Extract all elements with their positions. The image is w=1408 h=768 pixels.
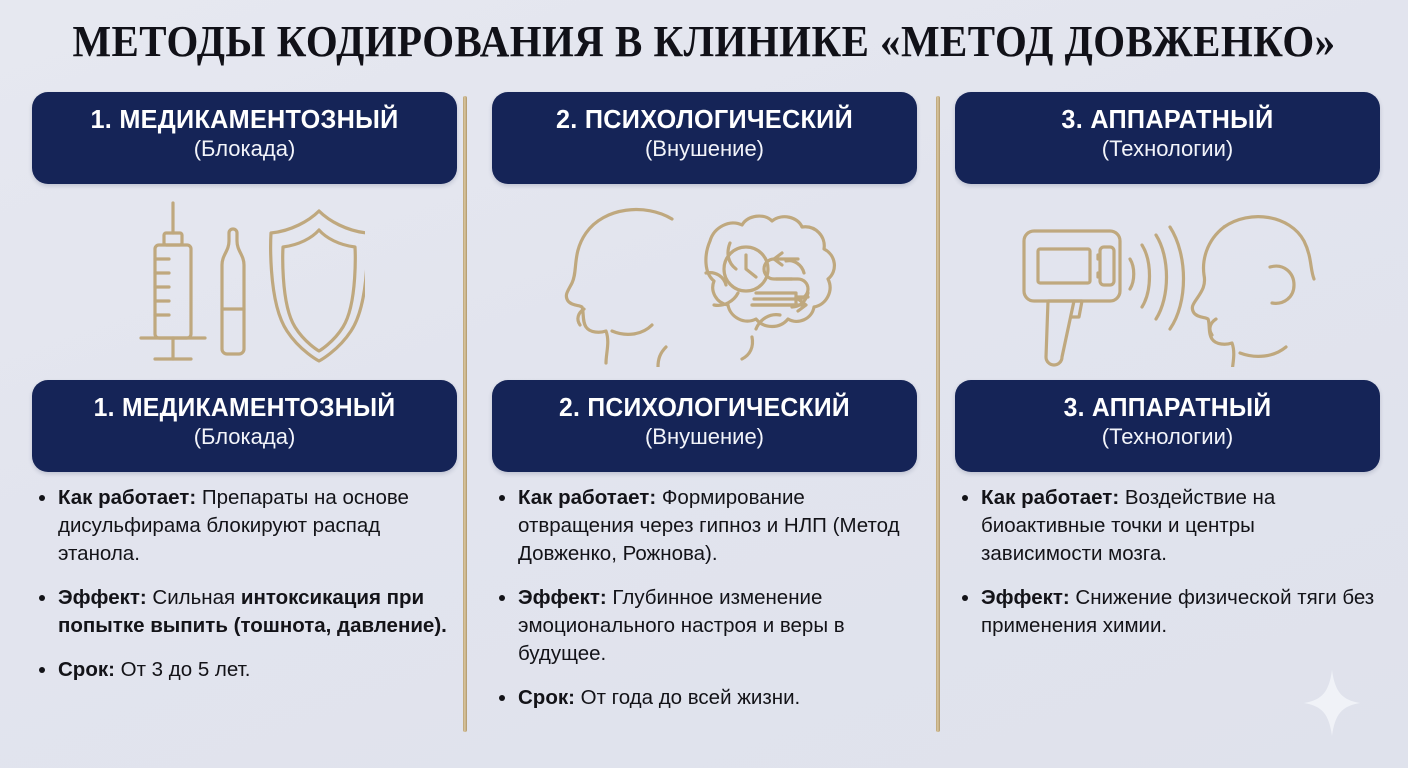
columns-container: 1. МЕДИКАМЕНТОЗНЫЙ (Блокада) (0, 92, 1408, 752)
header-card-bottom-1[interactable]: 1. МЕДИКАМЕНТОЗНЫЙ (Блокада) (32, 380, 457, 472)
page-title: МЕТОДЫ КОДИРОВАНИЯ В КЛИНИКЕ «МЕТОД ДОВЖ… (49, 14, 1358, 70)
list-item: Срок: От года до всей жизни. (492, 684, 917, 712)
icon-band-2 (492, 188, 917, 376)
header-card-top-2-subtitle: (Внушение) (500, 135, 909, 163)
list-item: Как работает: Воздействие на биоактивные… (955, 484, 1380, 568)
header-card-top-2-title: 2. ПСИХОЛОГИЧЕСКИЙ (506, 103, 903, 135)
header-card-bottom-3[interactable]: 3. АППАРАТНЫЙ (Технологии) (955, 380, 1380, 472)
header-card-bottom-1-subtitle: (Блокада) (40, 423, 449, 451)
bullet-label: Эффект: (518, 586, 607, 609)
icon-band-1 (32, 188, 457, 376)
list-item: Эффект: Глубинное изменение эмоционально… (492, 584, 917, 668)
bullet-label: Эффект: (58, 586, 147, 609)
bullet-label: Как работает: (58, 486, 196, 509)
bullet-label: Как работает: (981, 486, 1119, 509)
syringe-ampoule-shield-icon (125, 197, 365, 367)
bullet-list-2: Как работает: Формирование отвращения че… (492, 484, 917, 712)
bullet-label: Как работает: (518, 486, 656, 509)
list-item: Как работает: Препараты на основе дисуль… (32, 484, 457, 568)
header-card-top-3-title: 3. АППАРАТНЫЙ (969, 103, 1366, 135)
header-card-top-2[interactable]: 2. ПСИХОЛОГИЧЕСКИЙ (Внушение) (492, 92, 917, 184)
bullet-label: Срок: (518, 686, 575, 709)
header-card-bottom-1-title: 1. МЕДИКАМЕНТОЗНЫЙ (50, 391, 439, 423)
list-item: Эффект: Снижение физической тяги без при… (955, 584, 1380, 640)
list-item: Эффект: Сильная интоксикация при попытке… (32, 584, 457, 640)
list-item: Срок: От 3 до 5 лет. (32, 656, 457, 684)
device-waves-head-icon (1018, 197, 1318, 367)
header-card-bottom-2[interactable]: 2. ПСИХОЛОГИЧЕСКИЙ (Внушение) (492, 380, 917, 472)
header-card-bottom-3-title: 3. АППАРАТНЫЙ (973, 391, 1362, 423)
header-card-top-3-subtitle: (Технологии) (963, 135, 1372, 163)
header-card-top-1-subtitle: (Блокада) (40, 135, 449, 163)
column-apparatnyy: 3. АППАРАТНЫЙ (Технологии) (955, 92, 1380, 752)
column-medikamentoznyy: 1. МЕДИКАМЕНТОЗНЫЙ (Блокада) (32, 92, 457, 752)
bullet-label: Эффект: (981, 586, 1070, 609)
header-card-top-3[interactable]: 3. АППАРАТНЫЙ (Технологии) (955, 92, 1380, 184)
column-psihologicheskiy: 2. ПСИХОЛОГИЧЕСКИЙ (Внушение) (492, 92, 917, 752)
header-card-bottom-2-title: 2. ПСИХОЛОГИЧЕСКИЙ (510, 391, 899, 423)
bullet-list-1: Как работает: Препараты на основе дисуль… (32, 484, 457, 684)
bullet-text: От 3 до 5 лет. (115, 658, 250, 681)
bullet-text: От года до всей жизни. (575, 686, 800, 709)
bullet-label: Срок: (58, 658, 115, 681)
sparkle-star-decoration (1302, 668, 1362, 738)
header-card-top-1[interactable]: 1. МЕДИКАМЕНТОЗНЫЙ (Блокада) (32, 92, 457, 184)
head-brain-clock-icon (560, 197, 850, 367)
bullet-text: Сильная (147, 586, 241, 609)
header-card-top-1-title: 1. МЕДИКАМЕНТОЗНЫЙ (46, 103, 443, 135)
header-card-bottom-3-subtitle: (Технологии) (963, 423, 1372, 451)
list-item: Как работает: Формирование отвращения че… (492, 484, 917, 568)
bullet-list-3: Как работает: Воздействие на биоактивные… (955, 484, 1380, 640)
icon-band-3 (955, 188, 1380, 376)
header-card-bottom-2-subtitle: (Внушение) (500, 423, 909, 451)
infographic-page: МЕТОДЫ КОДИРОВАНИЯ В КЛИНИКЕ «МЕТОД ДОВЖ… (0, 0, 1408, 768)
